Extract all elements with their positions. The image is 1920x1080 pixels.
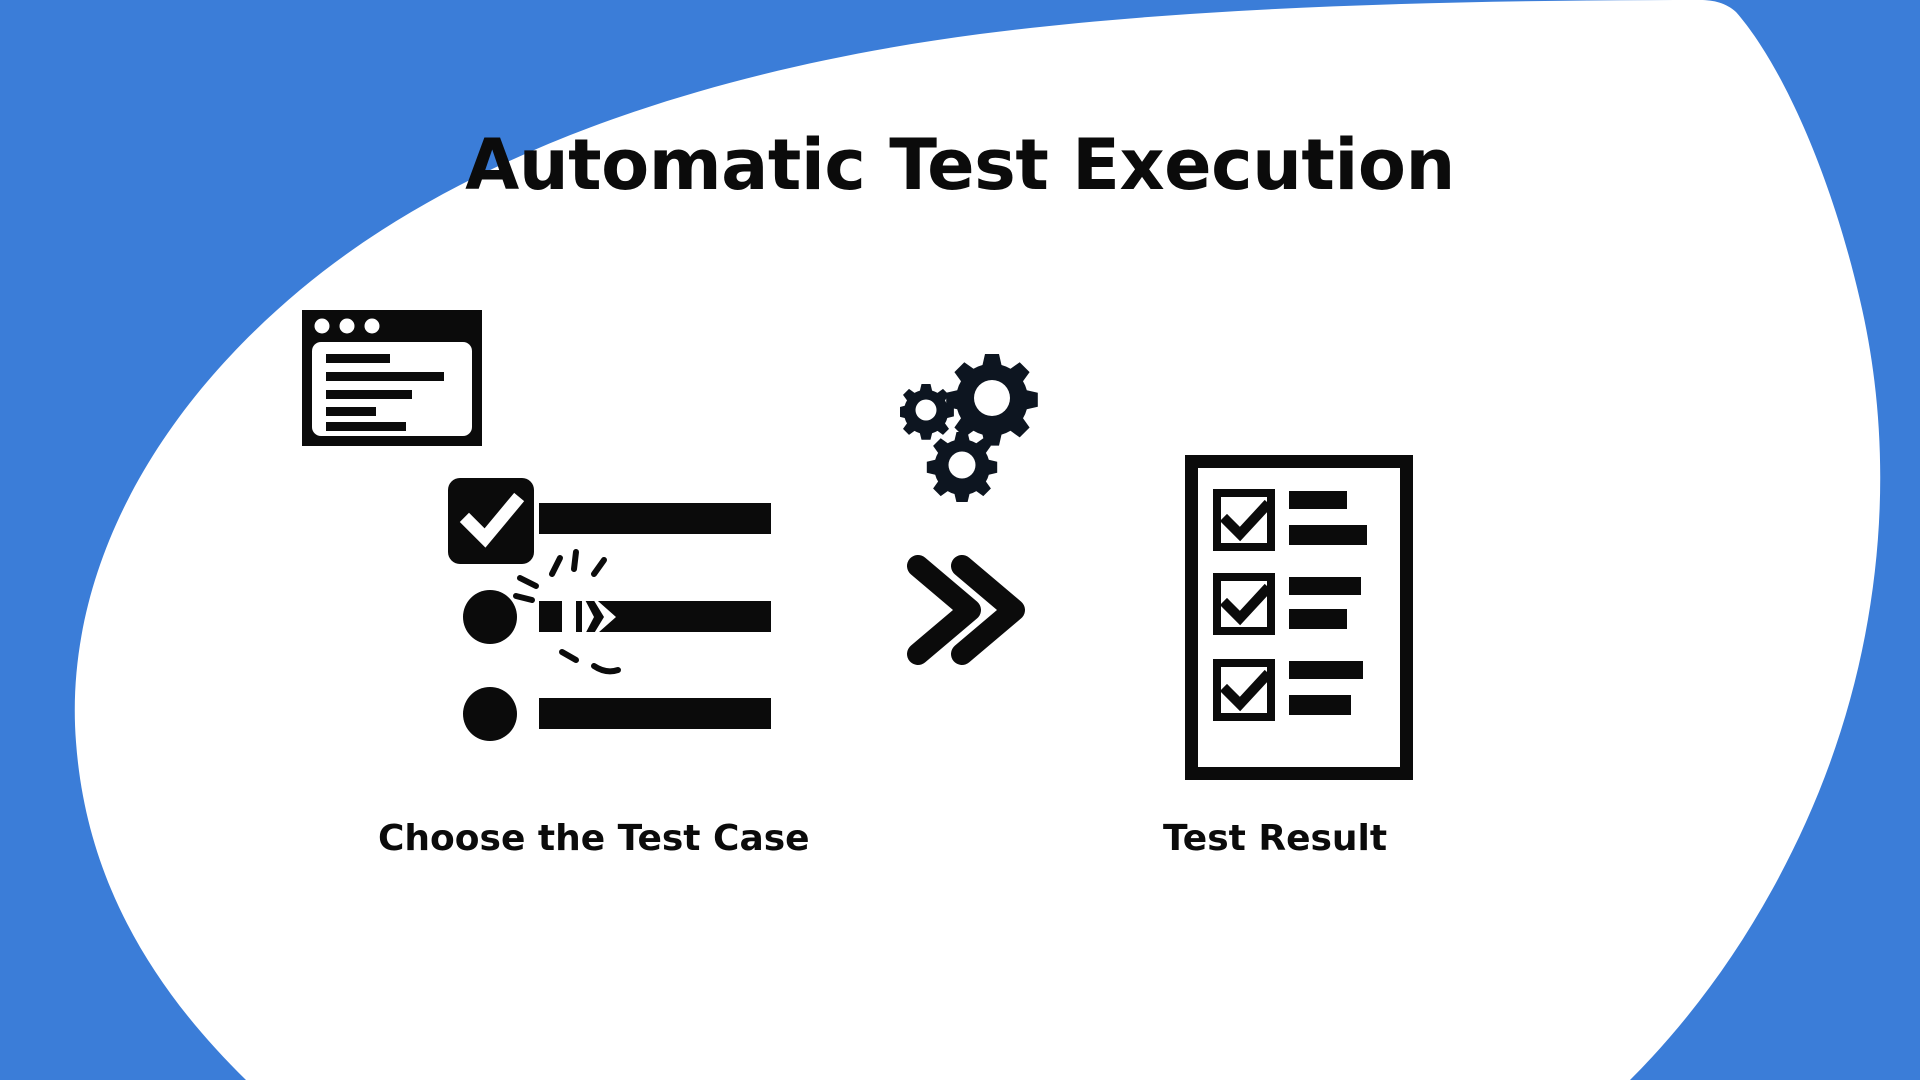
gears-icon bbox=[900, 352, 1050, 502]
result-bar-3b bbox=[1289, 695, 1351, 715]
result-bar-2a bbox=[1289, 577, 1361, 595]
step-caption-choose-test-case: Choose the Test Case bbox=[378, 818, 810, 859]
result-bar-1a bbox=[1289, 491, 1347, 509]
result-bar-2b bbox=[1289, 609, 1347, 629]
step-caption-test-result: Test Result bbox=[1163, 818, 1387, 859]
cursor-gap-left bbox=[562, 593, 576, 642]
browser-dot-2 bbox=[340, 319, 355, 334]
gear-large-icon bbox=[946, 354, 1038, 446]
slide-canvas: Automatic Test Execution bbox=[0, 0, 1920, 1080]
test-case-list-icon[interactable] bbox=[444, 474, 784, 744]
browser-dot-1 bbox=[315, 319, 330, 334]
gear-medium-icon bbox=[927, 432, 997, 502]
page-title: Automatic Test Execution bbox=[0, 124, 1920, 206]
test-result-document-icon bbox=[1185, 455, 1413, 780]
radio-filled-icon-1[interactable] bbox=[463, 590, 517, 644]
result-bar-1b bbox=[1289, 525, 1367, 545]
list-row-3[interactable] bbox=[463, 687, 771, 741]
double-chevron-right-icon bbox=[900, 548, 1030, 673]
browser-window-icon bbox=[302, 310, 482, 446]
browser-dot-3 bbox=[365, 319, 380, 334]
gear-small-icon bbox=[900, 384, 954, 440]
list-row-bar-3 bbox=[539, 698, 771, 729]
list-row-bar-1 bbox=[539, 503, 771, 534]
result-bar-3a bbox=[1289, 661, 1363, 679]
cursor-gap-right bbox=[582, 594, 594, 640]
radio-filled-icon-2[interactable] bbox=[463, 687, 517, 741]
list-row-clicking[interactable] bbox=[463, 552, 771, 671]
list-row-selected[interactable] bbox=[448, 478, 771, 564]
